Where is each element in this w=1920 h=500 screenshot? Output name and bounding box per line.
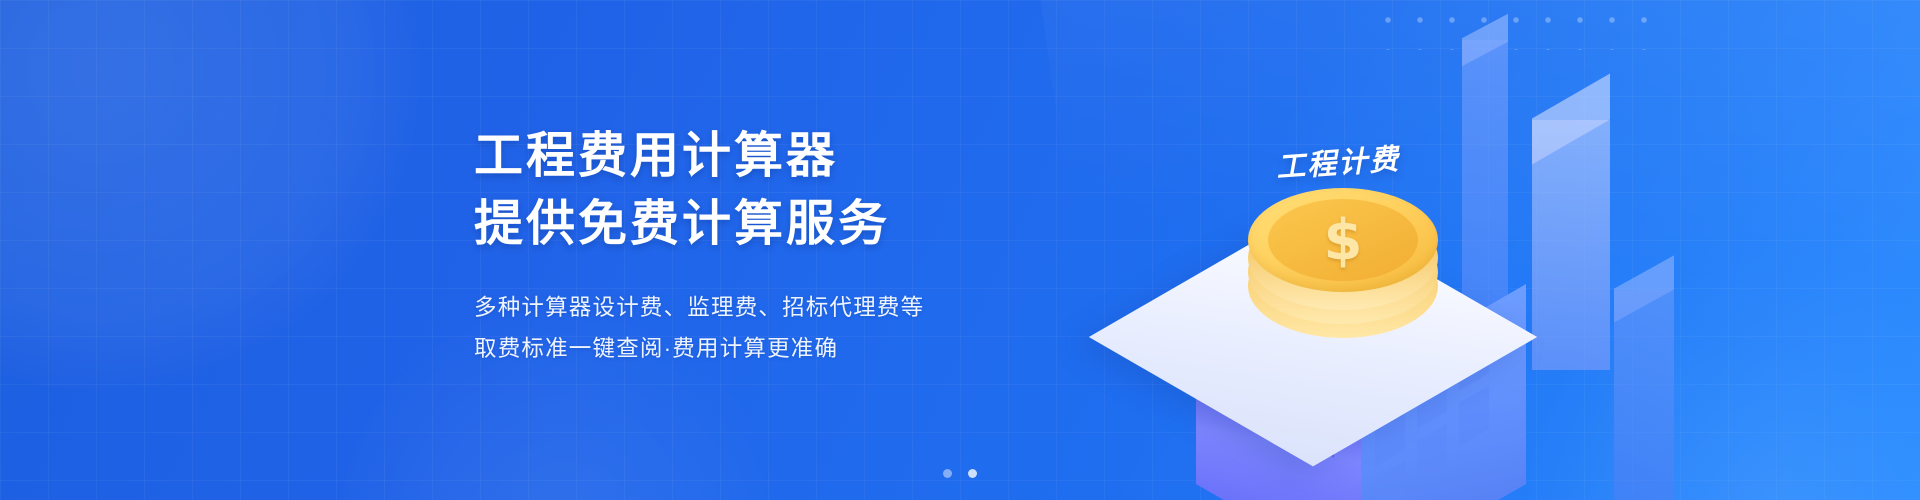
banner-subtitle-line2: 取费标准一键查阅·费用计算更准确 <box>474 329 1114 370</box>
background-slab-c <box>1614 290 1674 500</box>
dollar-sign-icon: $ <box>1248 188 1438 292</box>
carousel-dot-1[interactable] <box>943 469 952 478</box>
banner-headline-line2: 提供免费计算服务 <box>474 193 1114 257</box>
glow-circle-top-left <box>0 0 420 390</box>
banner-illustration: $ 工程计费 <box>1080 0 1920 500</box>
coin-stack-icon: $ <box>1248 188 1438 338</box>
banner-subtitle-block: 多种计算器设计费、监理费、招标代理费等 取费标准一键查阅·费用计算更准确 <box>474 288 1114 369</box>
banner-subtitle-line1: 多种计算器设计费、监理费、招标代理费等 <box>474 288 1114 329</box>
building-window <box>1459 385 1489 446</box>
carousel-dot-2[interactable] <box>968 469 977 478</box>
building-window <box>1375 462 1405 500</box>
banner-copy-block: 工程费用计算器 提供免费计算服务 多种计算器设计费、监理费、招标代理费等 取费标… <box>474 125 1114 369</box>
carousel-indicators[interactable] <box>943 469 977 478</box>
background-slab-b <box>1532 120 1610 370</box>
hero-banner: 工程费用计算器 提供免费计算服务 多种计算器设计费、监理费、招标代理费等 取费标… <box>0 0 1920 500</box>
illustration-label: 工程计费 <box>1275 136 1402 187</box>
banner-headline-line1: 工程费用计算器 <box>474 125 1114 189</box>
building-window <box>1417 424 1447 485</box>
